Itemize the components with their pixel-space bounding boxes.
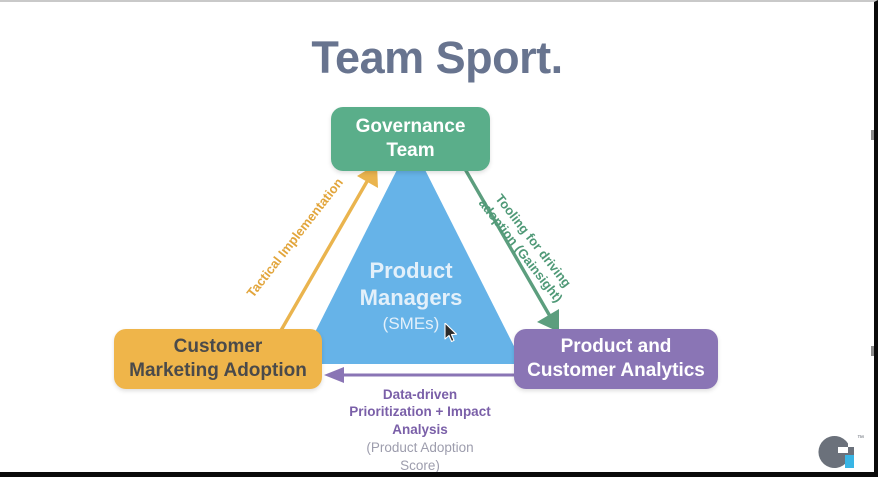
page-title: Team Sport. — [0, 32, 874, 84]
arrow-data-driven-prioritization — [318, 364, 530, 386]
node-product-and-customer-analytics-line-2: Customer Analytics — [527, 360, 705, 381]
node-governance-team-line-2: Team — [386, 140, 434, 161]
presentation-slide: Team Sport. Product Managers (S — [0, 2, 874, 472]
node-governance-team[interactable]: Governance Team — [331, 107, 490, 171]
scrollbar-mark-top[interactable] — [871, 130, 874, 140]
gainsight-logo: ™ — [812, 430, 866, 474]
gainsight-accent-square — [845, 455, 854, 468]
node-customer-marketing-adoption-line-1: Customer — [174, 336, 263, 357]
node-governance-team-line-1: Governance — [356, 116, 466, 137]
bottom-label-line-3: Analysis — [334, 421, 506, 438]
node-product-and-customer-analytics-line-1: Product and — [561, 336, 672, 357]
bottom-label-line-1: Data-driven — [334, 386, 506, 403]
node-product-and-customer-analytics[interactable]: Product and Customer Analytics — [514, 329, 718, 389]
node-customer-marketing-adoption-label: Customer Marketing Adoption — [129, 335, 307, 383]
node-product-and-customer-analytics-label: Product and Customer Analytics — [527, 335, 705, 383]
bottom-label-sub-1: (Product Adoption — [334, 439, 506, 456]
node-customer-marketing-adoption-line-2: Marketing Adoption — [129, 360, 307, 381]
screenshot-frame: Team Sport. Product Managers (S — [0, 0, 878, 477]
node-governance-team-label: Governance Team — [356, 115, 466, 163]
bottom-label-sub-2: Score) — [334, 457, 506, 474]
gainsight-trademark: ™ — [857, 435, 864, 442]
scrollbar-mark-bottom[interactable] — [871, 346, 874, 356]
edge-label-data-driven-prioritization: Data-driven Prioritization + Impact Anal… — [334, 386, 506, 474]
node-customer-marketing-adoption[interactable]: Customer Marketing Adoption — [114, 329, 322, 389]
bottom-label-line-2: Prioritization + Impact — [334, 403, 506, 420]
